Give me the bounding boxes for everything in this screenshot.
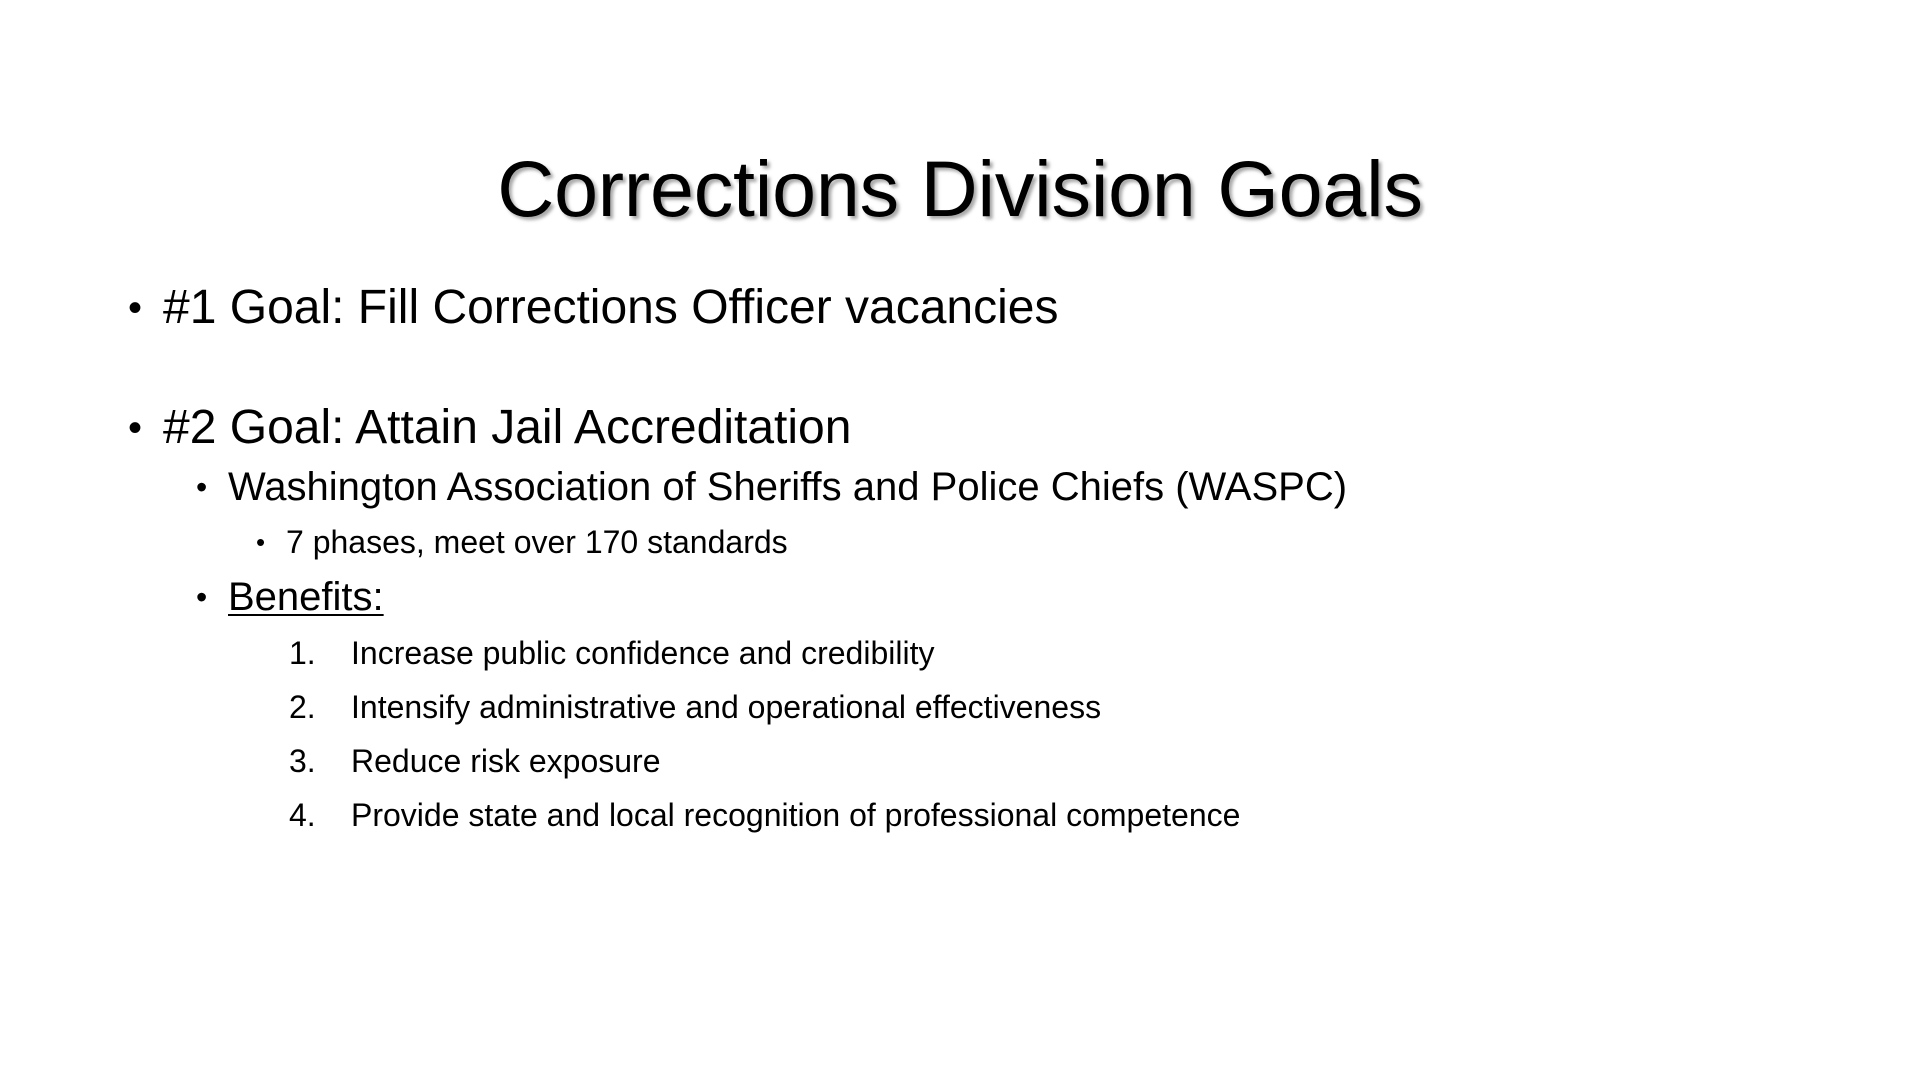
slide-body-content: • #1 Goal: Fill Corrections Officer vaca…: [128, 278, 1828, 842]
bullet-icon: •: [256, 516, 286, 568]
numbered-item-2: 2. Intensify administrative and operatio…: [289, 680, 1828, 734]
numbered-item-3: 3. Reduce risk exposure: [289, 734, 1828, 788]
bullet-phases-standards: • 7 phases, meet over 170 standards: [256, 516, 1828, 568]
numbered-item-1: 1. Increase public confidence and credib…: [289, 626, 1828, 680]
numbered-item-2-label: Intensify administrative and operational…: [351, 680, 1101, 734]
bullet-icon: •: [128, 398, 163, 458]
bullet-goal-1: • #1 Goal: Fill Corrections Officer vaca…: [128, 278, 1828, 338]
bullet-waspc: • Washington Association of Sheriffs and…: [196, 458, 1828, 516]
list-number: 4.: [289, 788, 351, 842]
list-number: 2.: [289, 680, 351, 734]
bullet-icon: •: [196, 568, 228, 626]
bullet-icon: •: [196, 458, 228, 516]
numbered-item-4: 4. Provide state and local recognition o…: [289, 788, 1828, 842]
blank-line-spacer: [128, 338, 1828, 398]
list-number: 3.: [289, 734, 351, 788]
bullet-goal-2: • #2 Goal: Attain Jail Accreditation: [128, 398, 1828, 458]
bullet-goal-2-label: #2 Goal: Attain Jail Accreditation: [163, 398, 851, 458]
numbered-item-1-label: Increase public confidence and credibili…: [351, 626, 934, 680]
bullet-waspc-label: Washington Association of Sheriffs and P…: [228, 458, 1347, 516]
list-number: 1.: [289, 626, 351, 680]
page-title: Corrections Division Goals: [0, 149, 1920, 228]
bullet-benefits-heading-label: Benefits:: [228, 568, 384, 626]
bullet-benefits-heading: • Benefits:: [196, 568, 1828, 626]
bullet-phases-standards-label: 7 phases, meet over 170 standards: [286, 516, 788, 568]
bullet-icon: •: [128, 278, 163, 338]
numbered-item-3-label: Reduce risk exposure: [351, 734, 660, 788]
numbered-item-4-label: Provide state and local recognition of p…: [351, 788, 1240, 842]
bullet-goal-1-label: #1 Goal: Fill Corrections Officer vacanc…: [163, 278, 1058, 338]
presentation-slide: Corrections Division Goals • #1 Goal: Fi…: [0, 0, 1920, 1080]
